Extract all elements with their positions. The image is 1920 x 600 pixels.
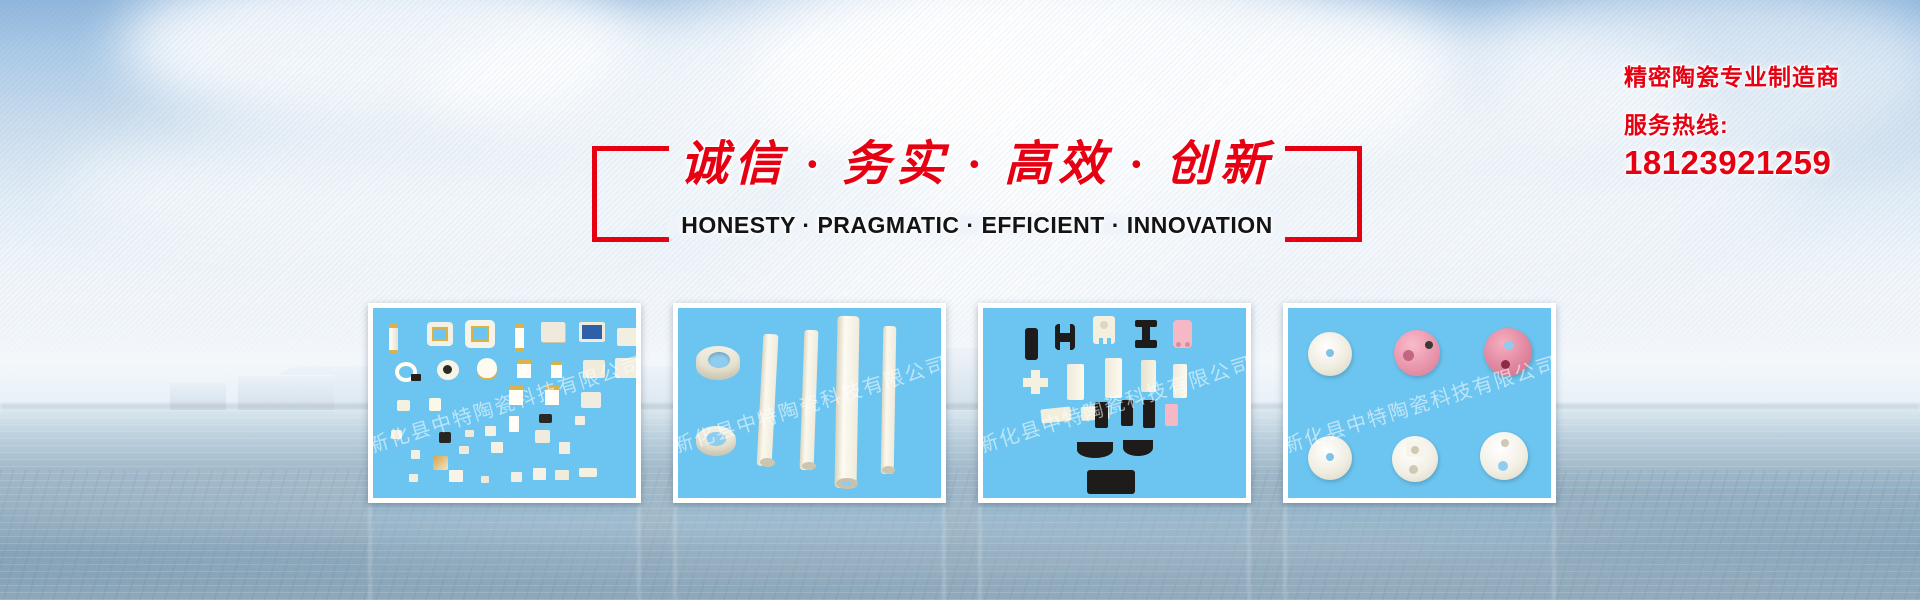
- panel-reflection: [368, 506, 641, 600]
- hero-banner: 诚信 · 务实 · 高效 · 创新 HONESTY · PRAGMATIC · …: [0, 0, 1920, 600]
- panel-image-ceramic-discs-and-nozzles: 新化县中特陶瓷科技有限公司: [1288, 308, 1551, 498]
- hotline-number[interactable]: 18123921259: [1624, 144, 1884, 182]
- hotline-label: 服务热线:: [1624, 106, 1884, 140]
- company-tagline: 精密陶瓷专业制造商: [1624, 58, 1884, 92]
- panel-image-ceramic-blocks-and-bars: 新化县中特陶瓷科技有限公司: [983, 308, 1246, 498]
- slogan-english-text: HONESTY · PRAGMATIC · EFFICIENT · INNOVA…: [667, 212, 1286, 238]
- panel-image-ceramic-tubes-and-rings: 新化县中特陶瓷科技有限公司: [678, 308, 941, 498]
- slogan-english: HONESTY · PRAGMATIC · EFFICIENT · INNOVA…: [562, 212, 1392, 239]
- slogan-chinese: 诚信 · 务实 · 高效 · 创新: [592, 124, 1362, 194]
- slogan-block: 诚信 · 务实 · 高效 · 创新 HONESTY · PRAGMATIC · …: [592, 146, 1362, 232]
- panel-image-smd-chip-components: 新化县中特陶瓷科技有限公司: [373, 308, 636, 498]
- product-panel-ceramic-tubes-and-rings[interactable]: 新化县中特陶瓷科技有限公司: [673, 303, 946, 503]
- panel-reflection: [673, 506, 946, 600]
- product-panel-ceramic-discs-and-nozzles[interactable]: 新化县中特陶瓷科技有限公司: [1283, 303, 1556, 503]
- contact-block: 精密陶瓷专业制造商 服务热线: 18123921259: [1624, 58, 1884, 182]
- product-panel-ceramic-blocks-and-bars[interactable]: 新化县中特陶瓷科技有限公司: [978, 303, 1251, 503]
- panel-reflections: [368, 506, 1562, 600]
- panel-reflection: [1283, 506, 1556, 600]
- product-panel-smd-chip-components[interactable]: 新化县中特陶瓷科技有限公司: [368, 303, 641, 503]
- panel-reflection: [978, 506, 1251, 600]
- product-panel-group: 新化县中特陶瓷科技有限公司 新化县中特陶瓷科技有限公司: [368, 303, 1562, 503]
